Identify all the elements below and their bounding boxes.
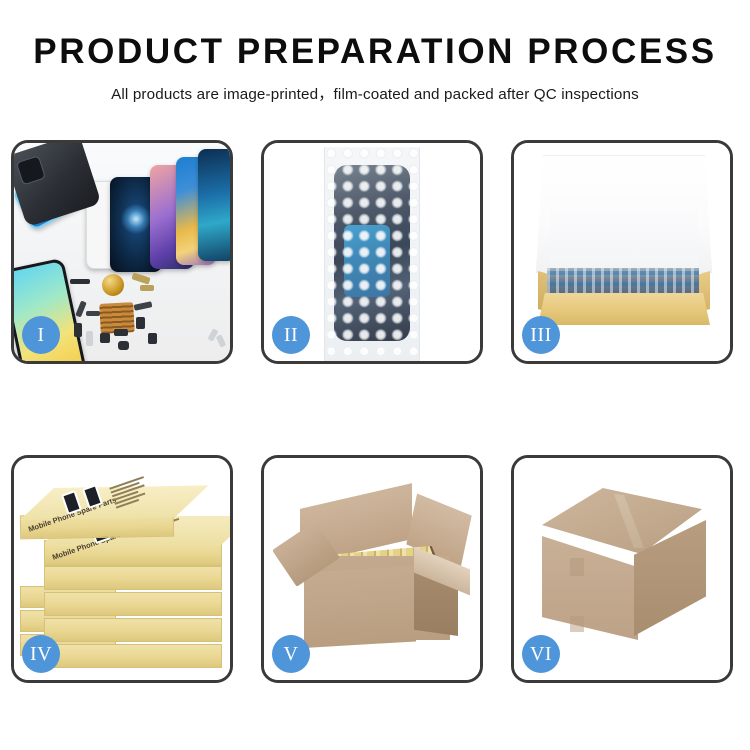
step-badge-1: I <box>22 316 60 354</box>
spare-part <box>131 272 150 284</box>
step-badge-5: V <box>272 635 310 673</box>
stacked-box <box>44 644 222 668</box>
header: PRODUCT PREPARATION PROCESS All products… <box>0 0 750 104</box>
step-badge-3: III <box>522 316 560 354</box>
process-step-6: VI <box>511 455 733 683</box>
product-preparation-infographic: PRODUCT PREPARATION PROCESS All products… <box>0 0 750 750</box>
process-step-5: V <box>261 455 483 683</box>
spare-part <box>118 341 129 350</box>
stacked-box <box>44 566 222 590</box>
spare-part <box>114 329 128 336</box>
mailer-box-front <box>538 293 710 325</box>
page-title: PRODUCT PREPARATION PROCESS <box>0 34 750 71</box>
spare-part <box>70 279 90 284</box>
bubble-highlights <box>323 145 421 363</box>
carton-flap-seam <box>570 558 584 576</box>
teal-phone-screen <box>198 149 233 261</box>
spare-part <box>74 323 82 337</box>
spare-part <box>75 300 87 317</box>
spare-part <box>134 301 153 311</box>
gold-coil-part <box>102 274 124 296</box>
process-step-2: II <box>261 140 483 364</box>
step-badge-2: II <box>272 316 310 354</box>
sealed-carton-front-face <box>542 536 638 640</box>
step-badge-6: VI <box>522 635 560 673</box>
process-step-4: Mobile Phone Spare Parts Mobile Phone Sp… <box>11 455 233 683</box>
spare-part <box>216 334 227 347</box>
step-badge-4: IV <box>22 635 60 673</box>
process-step-1: I <box>11 140 233 364</box>
stacked-box <box>44 592 222 616</box>
page-subtitle: All products are image-printed，film-coat… <box>0 82 750 104</box>
process-step-3: III <box>511 140 733 364</box>
carton-flap-seam <box>570 616 584 632</box>
process-step-grid: I II III <box>11 140 739 683</box>
mailer-box-contents <box>547 268 699 297</box>
spare-part <box>86 331 93 346</box>
spare-part <box>86 311 100 316</box>
spare-part <box>100 333 110 343</box>
spare-part <box>148 333 157 344</box>
spare-part <box>136 317 145 329</box>
stacked-box <box>44 618 222 642</box>
spare-part <box>140 285 154 291</box>
carton-front-face <box>304 566 416 648</box>
